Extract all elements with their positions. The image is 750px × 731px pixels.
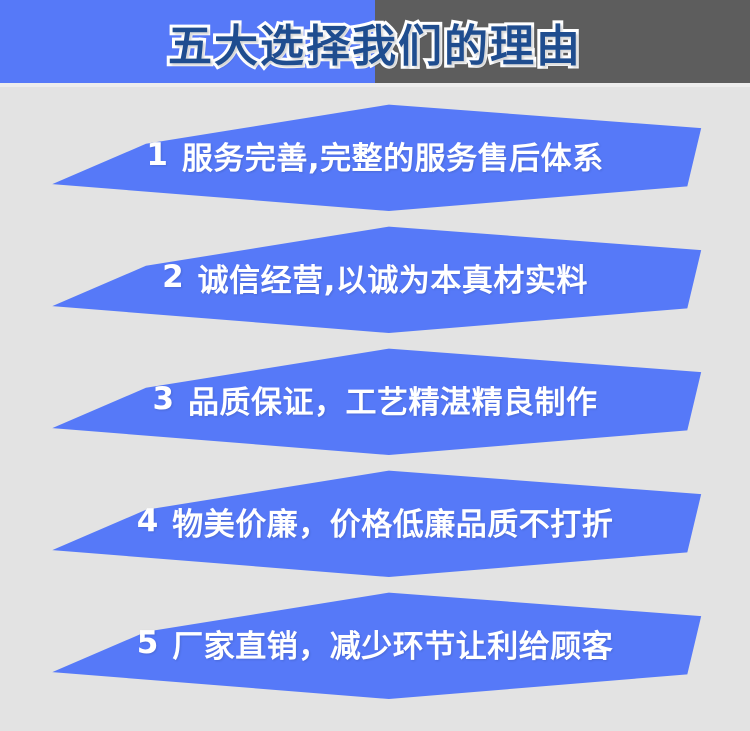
list-item: 2 诚信经营,以诚为本真材实料	[0, 209, 750, 331]
reason-label: 品质保证，工艺精湛精良制作	[188, 377, 598, 422]
list-item: 1 服务完善,完整的服务售后体系	[0, 87, 750, 209]
reason-number: 4	[137, 503, 159, 539]
page-title: 五大选择我们的理由	[0, 0, 750, 83]
list-item: 3 品质保证，工艺精湛精良制作	[0, 331, 750, 453]
reason-list: 1 服务完善,完整的服务售后体系 2 诚信经营,以诚为本真材实料 3 品质保证，…	[0, 87, 750, 697]
reason-label: 诚信经营,以诚为本真材实料	[198, 255, 588, 300]
reason-banner-text: 1 服务完善,完整的服务售后体系	[28, 99, 722, 211]
reason-banner-text: 5 厂家直销，减少环节让利给顾客	[28, 587, 722, 699]
reason-banner-text: 4 物美价廉，价格低廉品质不打折	[28, 465, 722, 577]
reason-label: 厂家直销，减少环节让利给顾客	[172, 621, 613, 666]
reason-number: 1	[146, 137, 168, 173]
list-item: 5 厂家直销，减少环节让利给顾客	[0, 575, 750, 697]
reason-number: 3	[152, 381, 174, 417]
reason-number: 2	[162, 259, 184, 295]
reason-banner-text: 2 诚信经营,以诚为本真材实料	[28, 221, 722, 333]
reason-number: 5	[137, 625, 159, 661]
reason-label: 物美价廉，价格低廉品质不打折	[172, 499, 613, 544]
reason-banner-text: 3 品质保证，工艺精湛精良制作	[28, 343, 722, 455]
header-banner: 五大选择我们的理由	[0, 0, 750, 83]
reason-label: 服务完善,完整的服务售后体系	[182, 133, 604, 178]
list-item: 4 物美价廉，价格低廉品质不打折	[0, 453, 750, 575]
